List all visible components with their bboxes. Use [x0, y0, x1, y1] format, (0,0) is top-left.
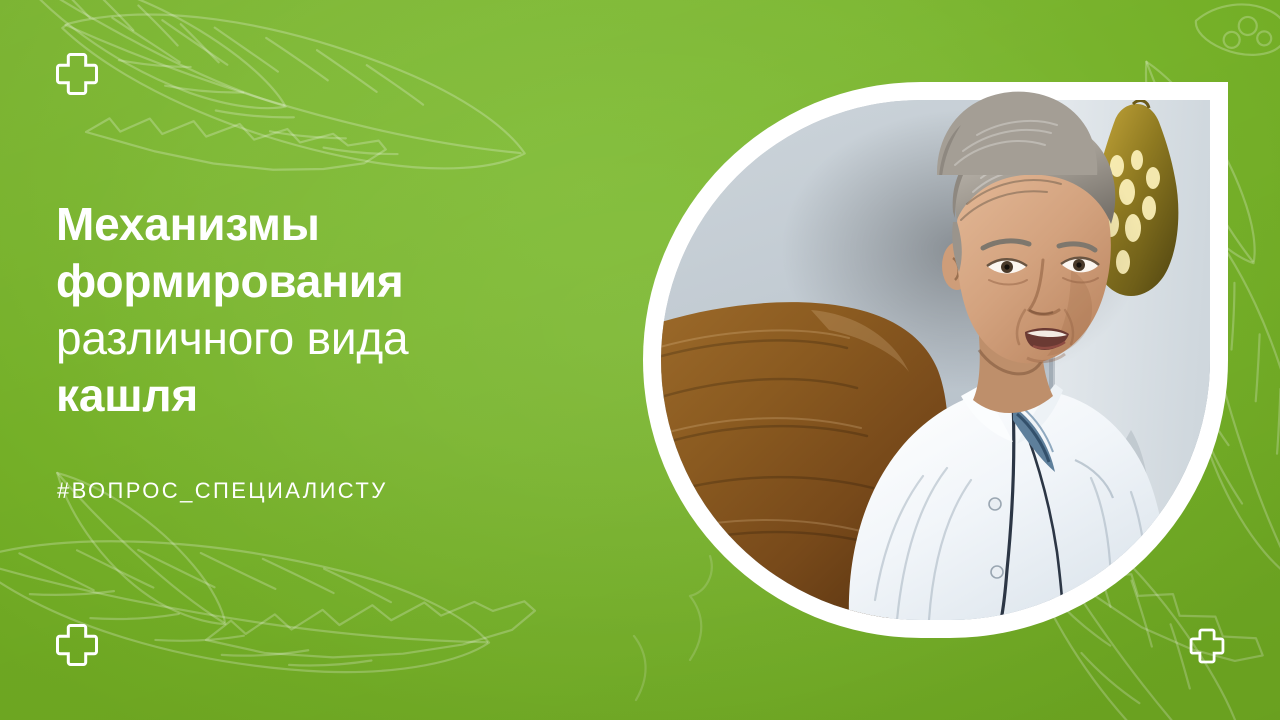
portrait-frame	[643, 82, 1228, 638]
title-block: Механизмы формирования различного вида к…	[56, 196, 616, 424]
medical-cross-icon-bottom-right	[1189, 628, 1225, 664]
title-line-4: кашля	[56, 367, 616, 424]
title-line-1: Механизмы	[56, 196, 616, 253]
medical-cross-icon-top-left	[55, 52, 99, 96]
title-line-2: формирования	[56, 253, 616, 310]
title-line-3: различного вида	[56, 310, 616, 367]
hashtag-label: #ВОПРОС_СПЕЦИАЛИСТУ	[57, 478, 388, 504]
page-title: Механизмы формирования различного вида к…	[56, 196, 616, 424]
portrait-image	[661, 100, 1210, 620]
medical-cross-icon-bottom-left	[55, 623, 99, 667]
slide-canvas: Механизмы формирования различного вида к…	[0, 0, 1280, 720]
